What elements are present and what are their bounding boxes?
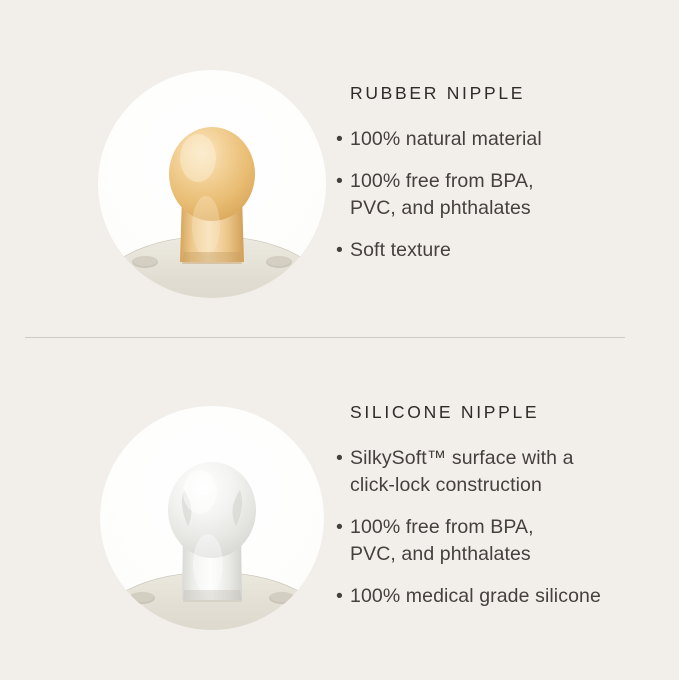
feature-list-item: • 100% medical grade silicone — [336, 583, 666, 610]
product-photo-silicone-nipple — [98, 406, 326, 642]
feature-list-item: • 100% free from BPA, PVC, and phthalate… — [336, 514, 666, 568]
feature-list-rubber: • 100% natural material • 100% free from… — [336, 126, 666, 264]
feature-list-item: • 100% natural material — [336, 126, 666, 153]
section-title-rubber: RUBBER NIPPLE — [336, 83, 666, 104]
bullet-marker-icon: • — [336, 168, 350, 195]
feature-text: 100% medical grade silicone — [350, 583, 666, 610]
section-divider — [25, 337, 625, 338]
feature-text: 100% free from BPA, PVC, and phthalates — [350, 514, 666, 568]
text-column-rubber: RUBBER NIPPLE • 100% natural material • … — [336, 0, 666, 264]
feature-text: Soft texture — [350, 237, 666, 264]
feature-text: SilkySoft™ surface with a click-lock con… — [350, 445, 666, 499]
section-silicone-nipple: SILICONE NIPPLE • SilkySoft™ surface wit… — [0, 340, 679, 680]
bullet-marker-icon: • — [336, 583, 350, 610]
section-rubber-nipple: RUBBER NIPPLE • 100% natural material • … — [0, 0, 679, 340]
feature-list-item: • 100% free from BPA, PVC, and phthalate… — [336, 168, 666, 222]
feature-list-silicone: • SilkySoft™ surface with a click-lock c… — [336, 445, 666, 610]
feature-list-item: • SilkySoft™ surface with a click-lock c… — [336, 445, 666, 499]
feature-text: 100% natural material — [350, 126, 666, 153]
bullet-marker-icon: • — [336, 126, 350, 153]
feature-text: 100% free from BPA, PVC, and phthalates — [350, 168, 666, 222]
text-column-silicone: SILICONE NIPPLE • SilkySoft™ surface wit… — [336, 340, 666, 610]
section-title-silicone: SILICONE NIPPLE — [336, 402, 666, 423]
bullet-marker-icon: • — [336, 237, 350, 264]
feature-list-item: • Soft texture — [336, 237, 666, 264]
product-photo-rubber-nipple — [98, 66, 326, 302]
bullet-marker-icon: • — [336, 445, 350, 472]
bullet-marker-icon: • — [336, 514, 350, 541]
